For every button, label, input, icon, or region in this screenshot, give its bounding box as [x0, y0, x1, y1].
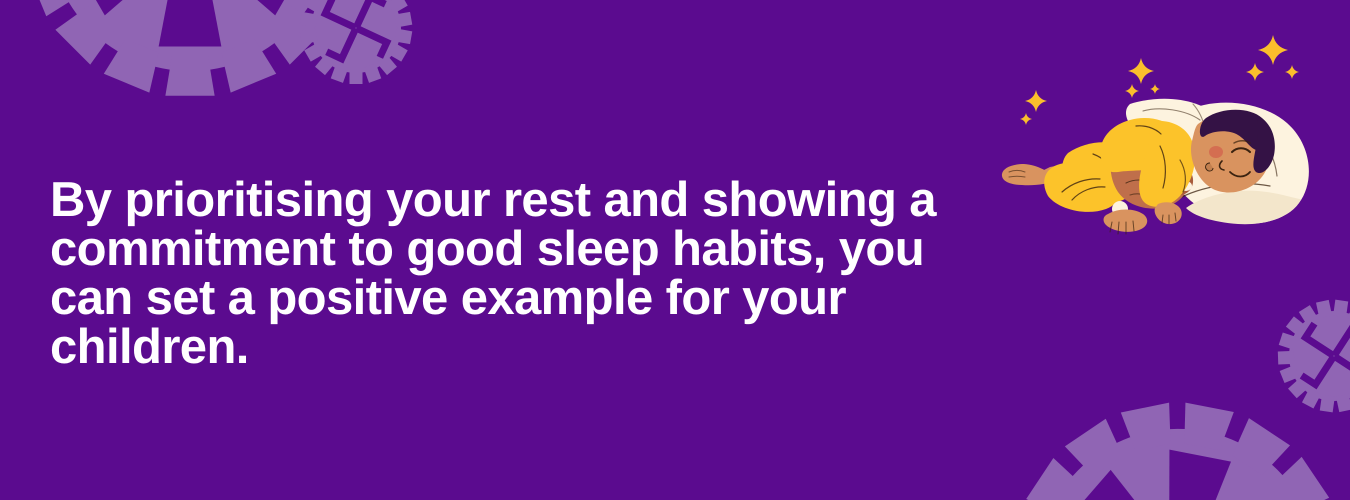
headline-block: By prioritising your rest and showing a … — [50, 176, 1000, 372]
sparkle-mid-small — [1125, 84, 1139, 98]
page-title: By prioritising your rest and showing a … — [50, 176, 1000, 372]
sparkle-mid-tiny — [1150, 84, 1160, 94]
sparkle-right-tiny — [1285, 65, 1299, 79]
sparkle-left-large — [1025, 90, 1047, 112]
sparkle-left-small — [1020, 113, 1032, 125]
cheek-blush — [1209, 146, 1223, 158]
sparkle-right-large — [1258, 35, 1288, 65]
sleep-quote-banner: By prioritising your rest and showing a … — [0, 0, 1350, 500]
sparkle-mid-large — [1128, 58, 1154, 84]
sparkle-right-small — [1246, 63, 1264, 81]
